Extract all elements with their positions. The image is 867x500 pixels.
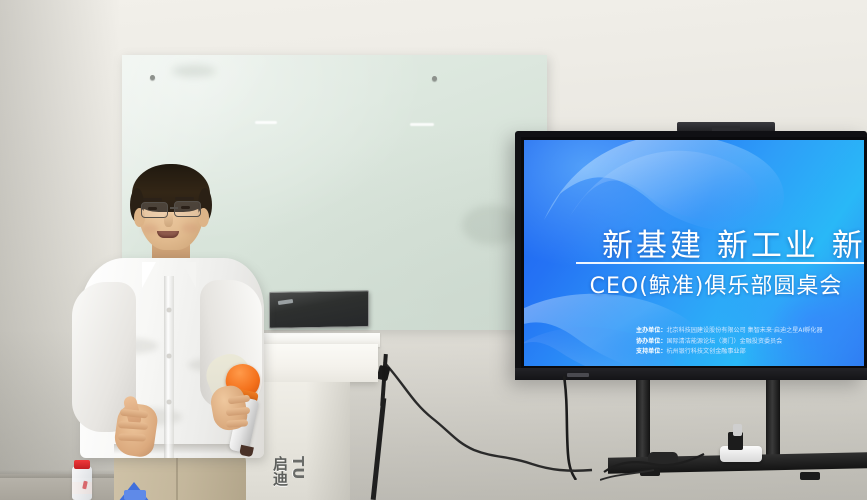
presenter xyxy=(60,158,280,500)
presenter-brow-left xyxy=(143,198,162,201)
shirt-button xyxy=(167,308,171,312)
credit-value: 北京科技园建设股份有限公司 集智未来·启迪之星AI孵化器 xyxy=(666,327,822,334)
shirt-placket xyxy=(164,276,174,458)
presenter-brow-right xyxy=(175,197,194,200)
stand-post-left xyxy=(636,380,650,460)
flat-panel-display: 新基建 新工业 新投 CEO(鲸准)俱乐部圆桌会 主办单位：北京科技园建设股份有… xyxy=(515,131,867,380)
shirt-button xyxy=(167,354,171,358)
display-brand-logo xyxy=(567,373,589,377)
shirt-collar-right xyxy=(182,262,196,288)
stand-foot-left xyxy=(640,468,660,476)
water-bottle-cap xyxy=(74,460,90,469)
stand-foot-right xyxy=(800,472,820,480)
trouser-seam xyxy=(176,458,178,500)
stand-post-right xyxy=(766,380,780,460)
presenter-eye-right xyxy=(181,206,190,209)
eyeglasses-bridge xyxy=(170,207,178,209)
lectern-logo-en: TU xyxy=(290,456,305,480)
whiteboard-smudge xyxy=(462,205,522,245)
credit-line: 主办单位：北京科技园建设股份有限公司 集智未来·启迪之星AI孵化器 xyxy=(636,326,823,337)
credit-line: 支持单位：杭州银行科技文创金融事业部 xyxy=(636,347,823,358)
slide-subtitle: CEO(鲸准)俱乐部圆桌会 xyxy=(524,268,864,300)
presenter-mouth xyxy=(157,231,179,238)
power-plug-prongs xyxy=(733,424,742,436)
credit-label: 协办单位： xyxy=(636,338,666,345)
presenter-cheek-right xyxy=(182,223,198,233)
whiteboard-glint xyxy=(410,123,434,126)
credit-label: 支持单位： xyxy=(636,348,666,355)
shirt-collar-left xyxy=(142,262,156,288)
presentation-room-photo: 新基建 新工业 新投 CEO(鲸准)俱乐部圆桌会 主办单位：北京科技园建设股份有… xyxy=(0,0,867,500)
blue-floor-object-base xyxy=(124,490,146,500)
slide-title: 新基建 新工业 新投 xyxy=(524,220,864,265)
laptop-lid xyxy=(269,290,369,329)
credit-value: 杭州银行科技文创金融事业部 xyxy=(666,348,745,355)
presenter-cheek-left xyxy=(142,224,158,234)
stand-caster xyxy=(648,452,678,464)
slide-credits: 主办单位：北京科技园建设股份有限公司 集智未来·启迪之星AI孵化器 协办单位：国… xyxy=(636,326,823,358)
shirt-button xyxy=(167,400,171,404)
credit-label: 主办单位： xyxy=(636,327,666,334)
presenter-nose xyxy=(164,212,173,227)
presenter-finger xyxy=(118,434,146,442)
whiteboard-peg xyxy=(150,75,155,80)
whiteboard-glint xyxy=(255,121,277,124)
whiteboard-smudge xyxy=(172,65,216,77)
slide-content: 新基建 新工业 新投 CEO(鲸准)俱乐部圆桌会 主办单位：北京科技园建设股份有… xyxy=(524,140,864,366)
credit-line: 协办单位：国际清洁能源论坛（澳门）金融投资委员会 xyxy=(636,337,823,348)
whiteboard-peg xyxy=(432,76,437,81)
presenter-eye-left xyxy=(148,207,157,210)
credit-value: 国际清洁能源论坛（澳门）金融投资委员会 xyxy=(666,338,782,345)
lectern-column-shading xyxy=(306,382,350,500)
slide-title-rule xyxy=(576,262,864,264)
